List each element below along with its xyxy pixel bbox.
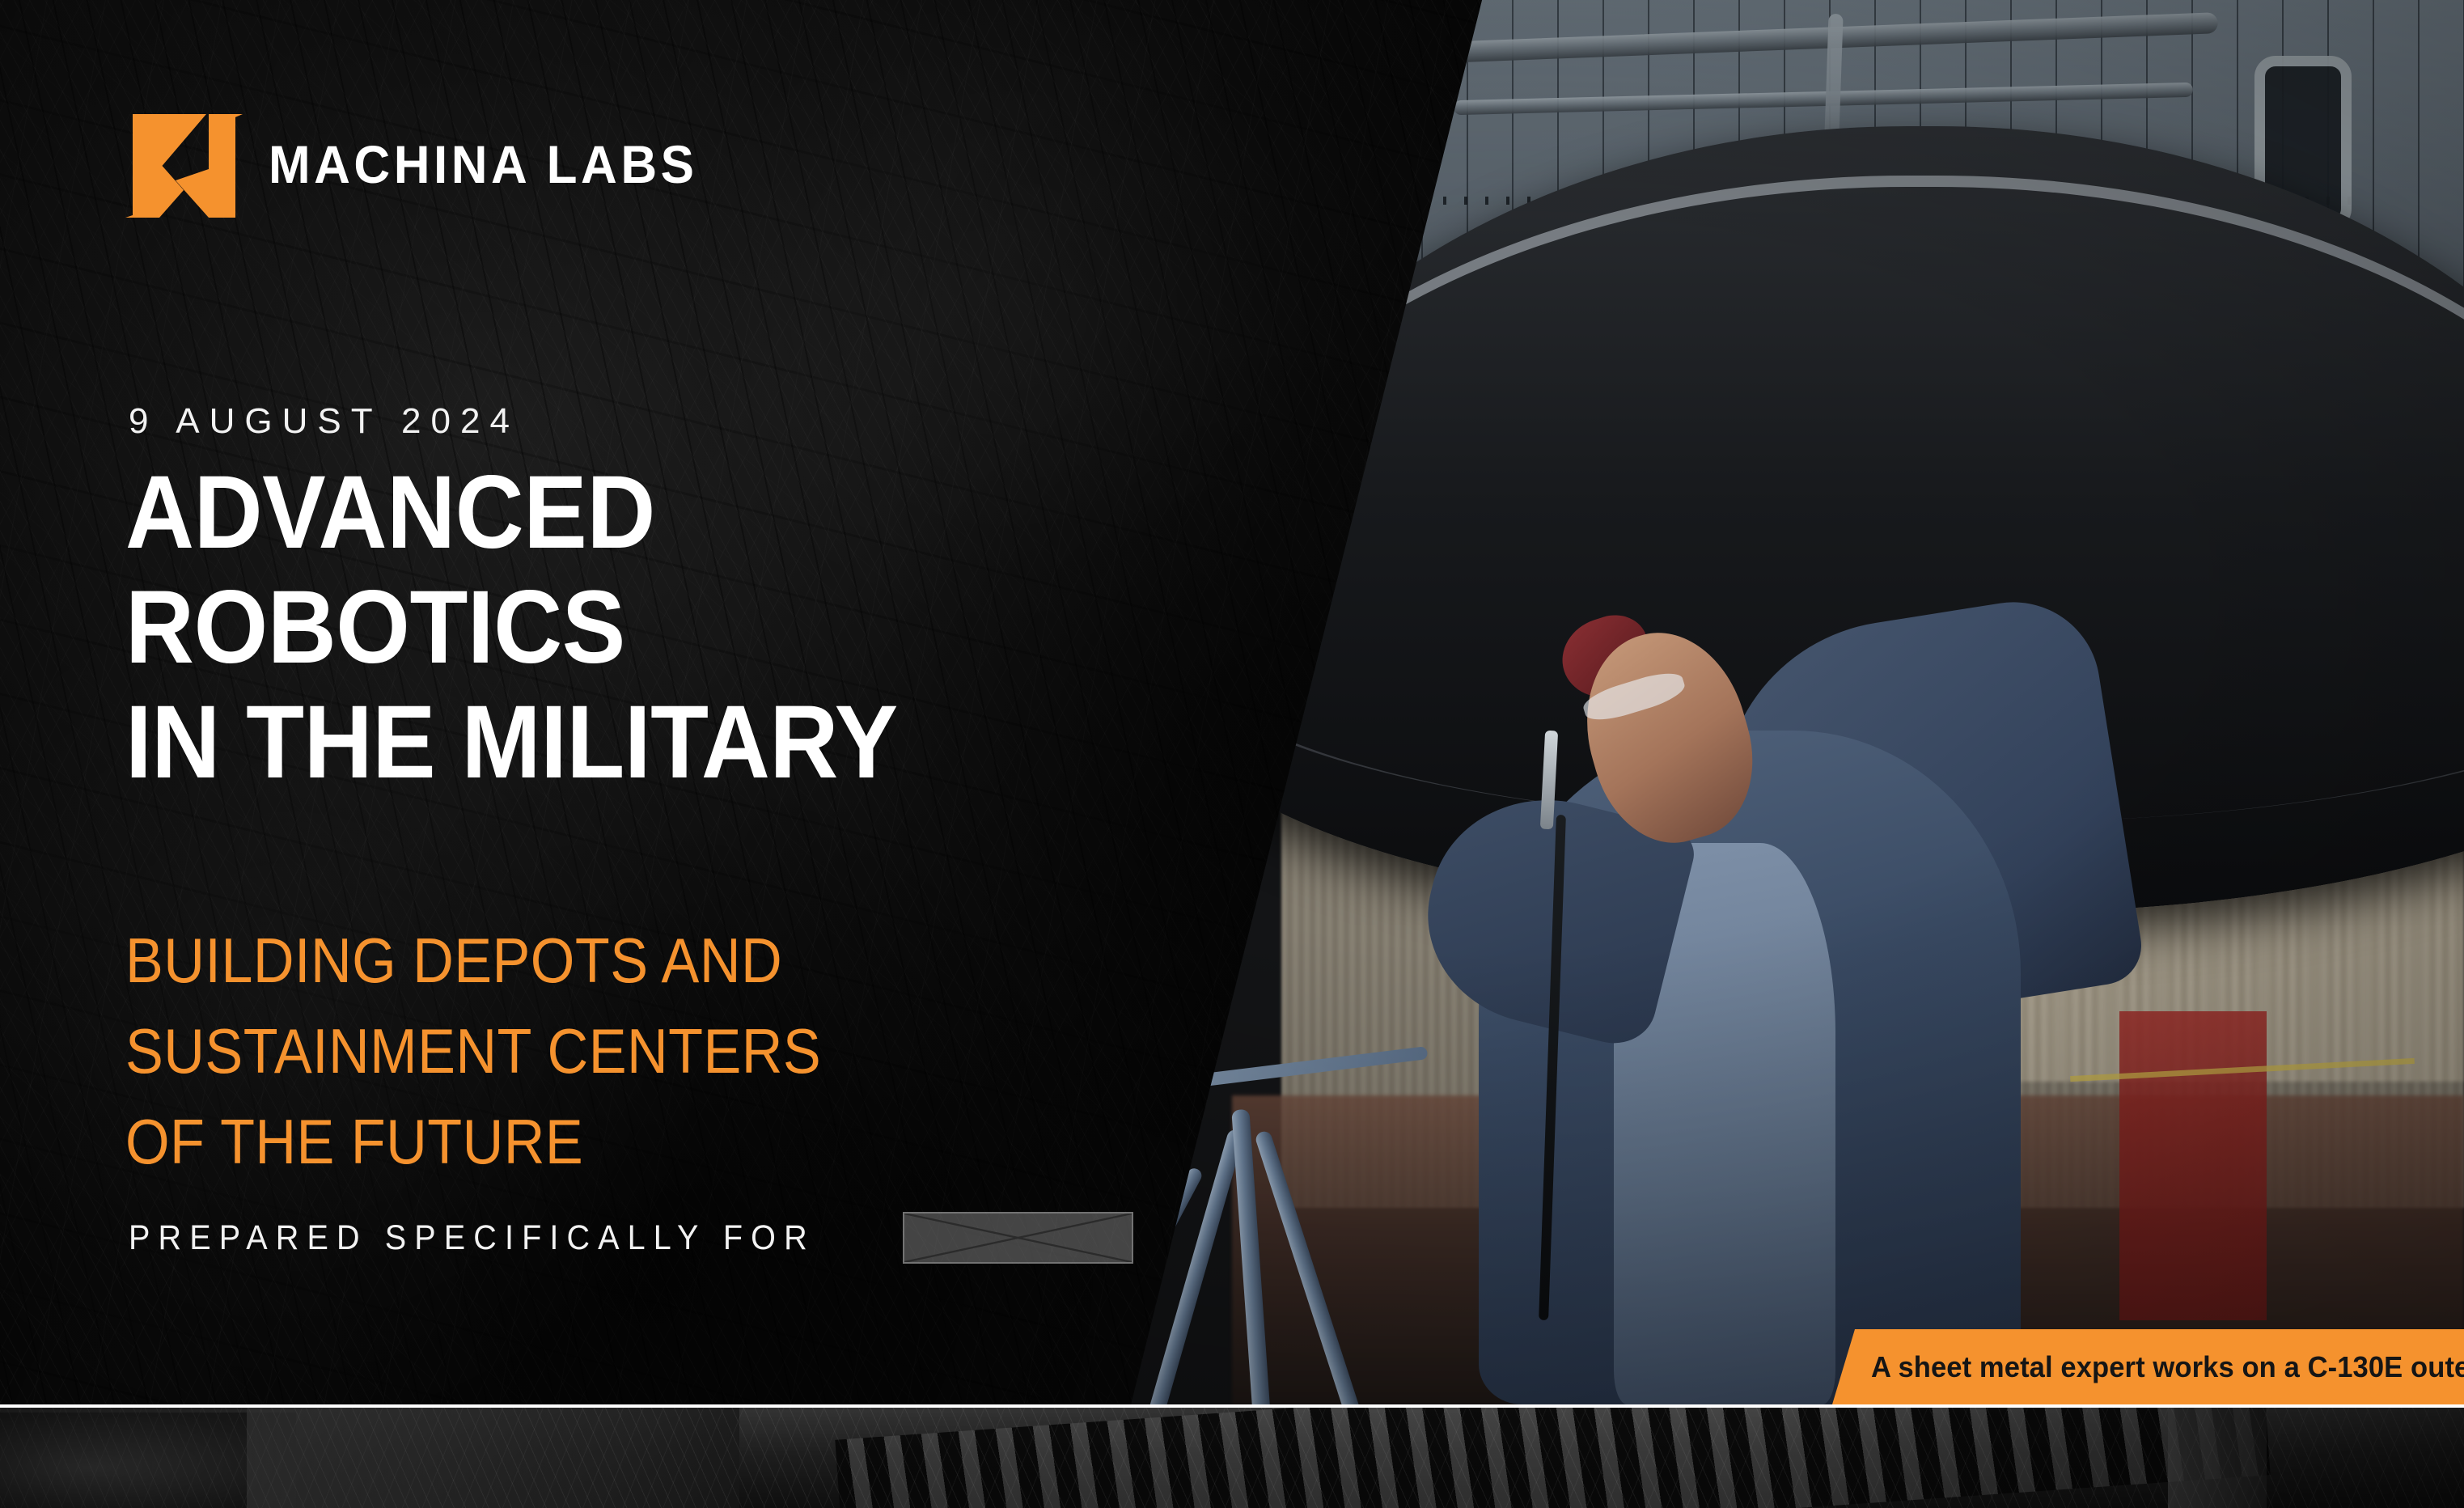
headline-line-1: ADVANCED [125,461,1167,565]
subtitle-line-1: BUILDING DEPOTS AND [125,929,1145,992]
broken-image-x-icon [904,1214,1132,1262]
photo-caption-bar: A sheet metal expert works on a C-130E o… [1832,1329,2464,1404]
slide-date: 9 AUGUST 2024 [129,401,519,442]
footer-vignette [0,1408,2464,1508]
subtitle: BUILDING DEPOTS AND SUSTAINMENT CENTERS … [125,929,1258,1201]
slide-content-area: MACHINA LABS 9 AUGUST 2024 ADVANCED ROBO… [0,0,2464,1404]
machina-labs-logo[interactable]: MACHINA LABS [125,109,697,222]
headline: ADVANCED ROBOTICS IN THE MILITARY [125,461,1258,806]
footer-divider [0,1404,2464,1408]
presentation-title-slide: MACHINA LABS 9 AUGUST 2024 ADVANCED ROBO… [0,0,2464,1508]
footer-texture-strip [0,1408,2464,1508]
prepared-for-row: PREPARED SPECIFICALLY FOR [129,1212,1133,1264]
headline-line-2: ROBOTICS [125,576,1167,680]
subtitle-line-3: OF THE FUTURE [125,1110,1145,1173]
machina-labs-m-logo-icon [125,109,243,222]
machina-labs-wordmark: MACHINA LABS [269,139,697,193]
subtitle-line-2: SUSTAINMENT CENTERS [125,1019,1145,1082]
client-logo-placeholder [903,1212,1133,1264]
prepared-for-label: PREPARED SPECIFICALLY FOR [129,1218,815,1258]
photo-caption-text: A sheet metal expert works on a C-130E o… [1832,1350,2464,1384]
headline-line-3: IN THE MILITARY [125,691,1167,794]
title-text-block: MACHINA LABS 9 AUGUST 2024 ADVANCED ROBO… [125,0,1258,1404]
